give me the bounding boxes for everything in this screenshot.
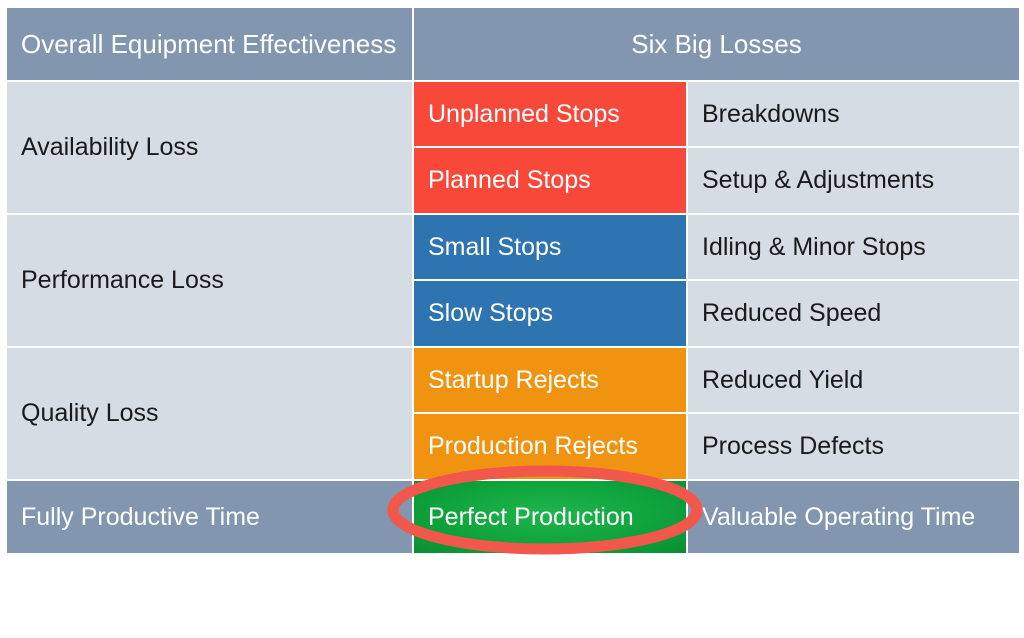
loss-production-rejects: Production Rejects	[414, 414, 686, 479]
oee-category-fully-productive-time: Fully Productive Time	[7, 481, 412, 553]
detail-setup-and-adjustments: Setup & Adjustments	[688, 148, 1019, 213]
detail-process-defects: Process Defects	[688, 414, 1019, 479]
loss-unplanned-stops: Unplanned Stops	[414, 82, 686, 146]
loss-startup-rejects: Startup Rejects	[414, 348, 686, 412]
loss-small-stops: Small Stops	[414, 215, 686, 279]
header-six-big-losses: Six Big Losses	[414, 8, 1019, 80]
oee-category-quality-loss: Quality Loss	[7, 348, 412, 479]
header-overall-equipment-effectiveness: Overall Equipment Effectiveness	[7, 8, 412, 80]
oee-category-performance-loss: Performance Loss	[7, 215, 412, 346]
loss-perfect-production: Perfect Production	[414, 481, 686, 553]
detail-idling-and-minor-stops: Idling & Minor Stops	[688, 215, 1019, 279]
detail-valuable-operating-time: Valuable Operating Time	[688, 481, 1019, 553]
oee-six-big-losses-table: Overall Equipment Effectiveness Six Big …	[7, 8, 1019, 553]
detail-reduced-yield: Reduced Yield	[688, 348, 1019, 412]
detail-reduced-speed: Reduced Speed	[688, 281, 1019, 346]
oee-category-availability-loss: Availability Loss	[7, 82, 412, 213]
detail-breakdowns: Breakdowns	[688, 82, 1019, 146]
loss-planned-stops: Planned Stops	[414, 148, 686, 213]
loss-slow-stops: Slow Stops	[414, 281, 686, 346]
